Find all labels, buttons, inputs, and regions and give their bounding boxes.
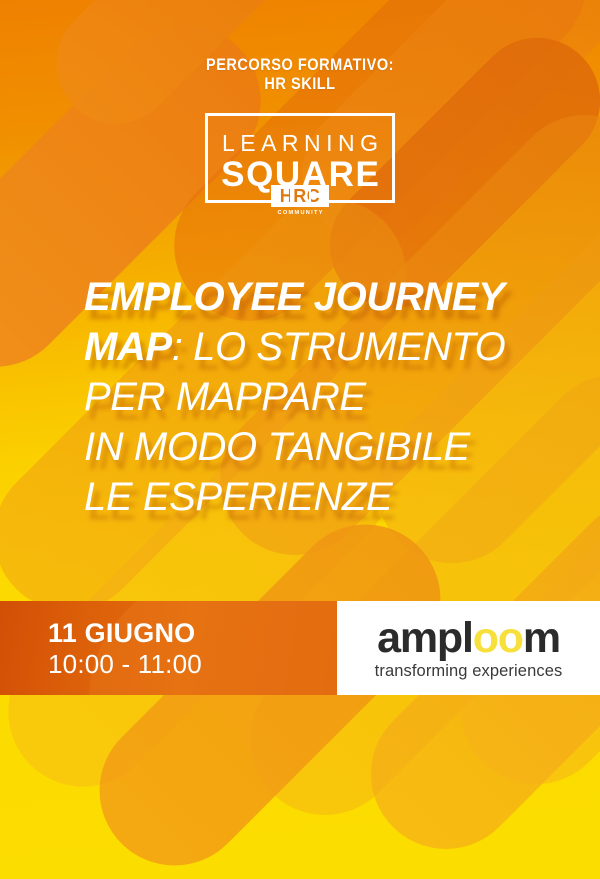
event-date: 11 GIUGNO	[48, 618, 195, 649]
amploom-wordmark: amploom	[337, 615, 600, 661]
sponsor-logo-panel: amploom transforming experiences	[337, 601, 600, 695]
headline-line1: EMPLOYEE JOURNEY	[84, 275, 504, 319]
page-title: EMPLOYEE JOURNEY MAP: LO STRUMENTO PER M…	[84, 272, 554, 522]
event-time: 10:00 - 11:00	[48, 649, 202, 679]
amploom-part2: m	[523, 614, 560, 662]
promotional-poster: PERCORSO FORMATIVO: HR SKILL LEARNING SQ…	[0, 0, 600, 879]
headline-line4: IN MODO TANGIBILE	[84, 425, 470, 469]
program-label: PERCORSO FORMATIVO: HR SKILL	[36, 56, 564, 94]
amploom-accent: oo	[473, 614, 523, 662]
event-datetime-bar: 11 GIUGNO 10:00 - 11:00	[0, 601, 337, 695]
headline-line5: LE ESPERIENZE	[84, 475, 392, 519]
headline-line2-light: : LO STRUMENTO	[172, 325, 506, 369]
headline-line3: PER MAPPARE	[84, 375, 366, 419]
hrc-logo-divider	[309, 185, 311, 207]
learning-square-word-learning: LEARNING	[208, 130, 392, 156]
hrc-logo-plate: HRC	[271, 185, 329, 207]
hrc-community-logo: HRC COMMUNITY	[271, 185, 329, 217]
hrc-logo-subtitle: COMMUNITY	[271, 209, 329, 217]
hrc-logo-letters: HRC	[271, 185, 329, 207]
program-label-line2: HR SKILL	[36, 75, 564, 94]
amploom-tagline: transforming experiences	[337, 661, 600, 681]
program-label-line1: PERCORSO FORMATIVO:	[36, 56, 564, 75]
hrc-logo-divider	[290, 185, 292, 207]
amploom-part1: ampl	[377, 614, 473, 662]
headline-line2-bold: MAP	[84, 325, 172, 369]
